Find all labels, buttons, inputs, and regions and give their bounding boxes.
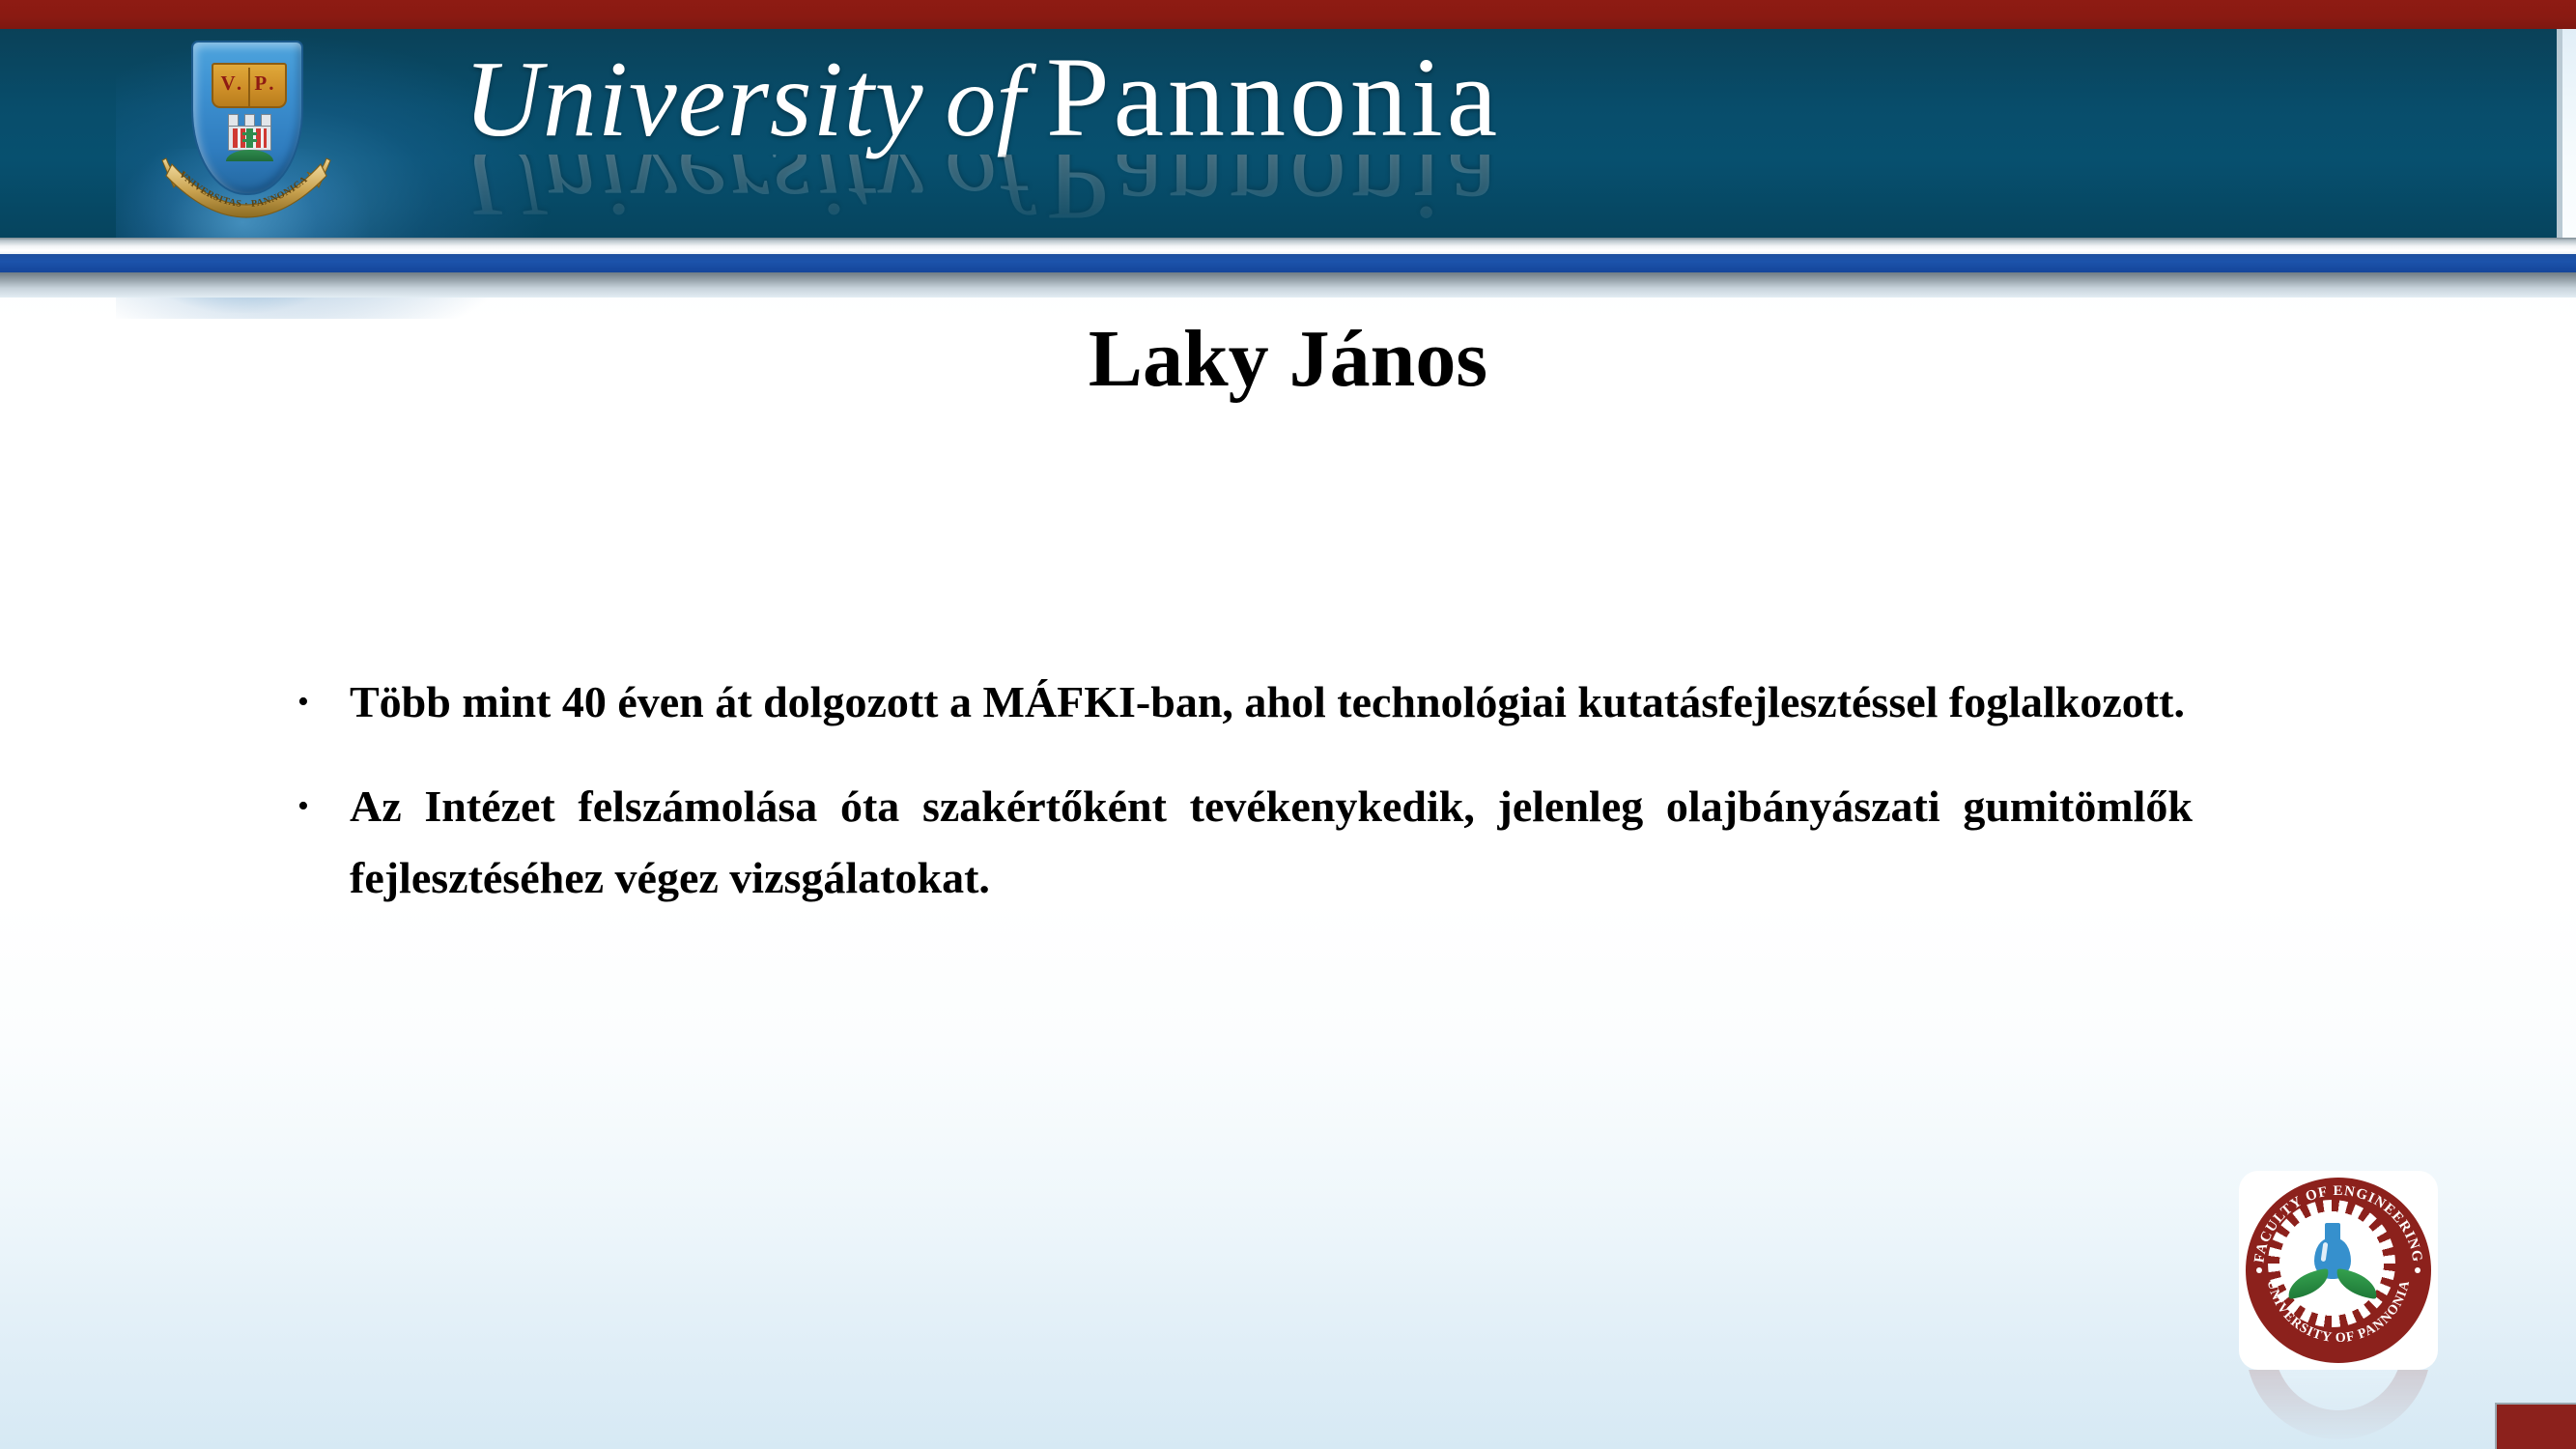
bullet-list: • Több mint 40 éven át dolgozott a MÁFKI… — [290, 667, 2193, 947]
open-book-icon: V. P. — [212, 63, 287, 108]
wordmark-university: University — [464, 40, 924, 159]
bullet-marker-icon: • — [290, 667, 350, 738]
svg-text:FACULTY OF ENGINEERING: FACULTY OF ENGINEERING — [2251, 1183, 2424, 1264]
separator-grey-band — [0, 272, 2576, 298]
faculty-seal-reflection — [2239, 1370, 2438, 1445]
faculty-of-engineering-seal: FACULTY OF ENGINEERING UNIVERSITY OF PAN… — [2239, 1171, 2438, 1370]
crest-ribbon: VNIVERSITAS · PANNONICA — [160, 133, 332, 226]
university-crest: V. P. — [160, 41, 332, 248]
slide-title: Laky János — [0, 317, 2576, 402]
list-item: • Az Intézet felszámolása óta szakértőké… — [290, 771, 2193, 914]
svg-text:UNIVERSITY OF PANNONIA: UNIVERSITY OF PANNONIA — [2264, 1279, 2414, 1347]
wordmark-of: of — [946, 44, 1025, 157]
presentation-slide: V. P. — [0, 0, 2576, 1449]
wordmark-pannonia: Pannonia — [1046, 34, 1501, 160]
header-red-bar — [0, 0, 2576, 29]
seal-text: FACULTY OF ENGINEERING UNIVERSITY OF PAN… — [2246, 1178, 2431, 1363]
crest-book-text: V. P. — [213, 73, 285, 94]
header-separator — [0, 238, 2576, 298]
bullet-marker-icon: • — [290, 771, 350, 842]
separator-silver-band — [0, 238, 2576, 254]
separator-blue-band — [0, 254, 2576, 272]
bullet-text: Több mint 40 éven át dolgozott a MÁFKI-b… — [350, 667, 2193, 738]
list-item: • Több mint 40 éven át dolgozott a MÁFKI… — [290, 667, 2193, 738]
bullet-text: Az Intézet felszámolása óta szakértőként… — [350, 771, 2193, 914]
corner-accent-block — [2495, 1403, 2576, 1449]
university-wordmark: UniversityofPannonia — [464, 35, 2202, 160]
